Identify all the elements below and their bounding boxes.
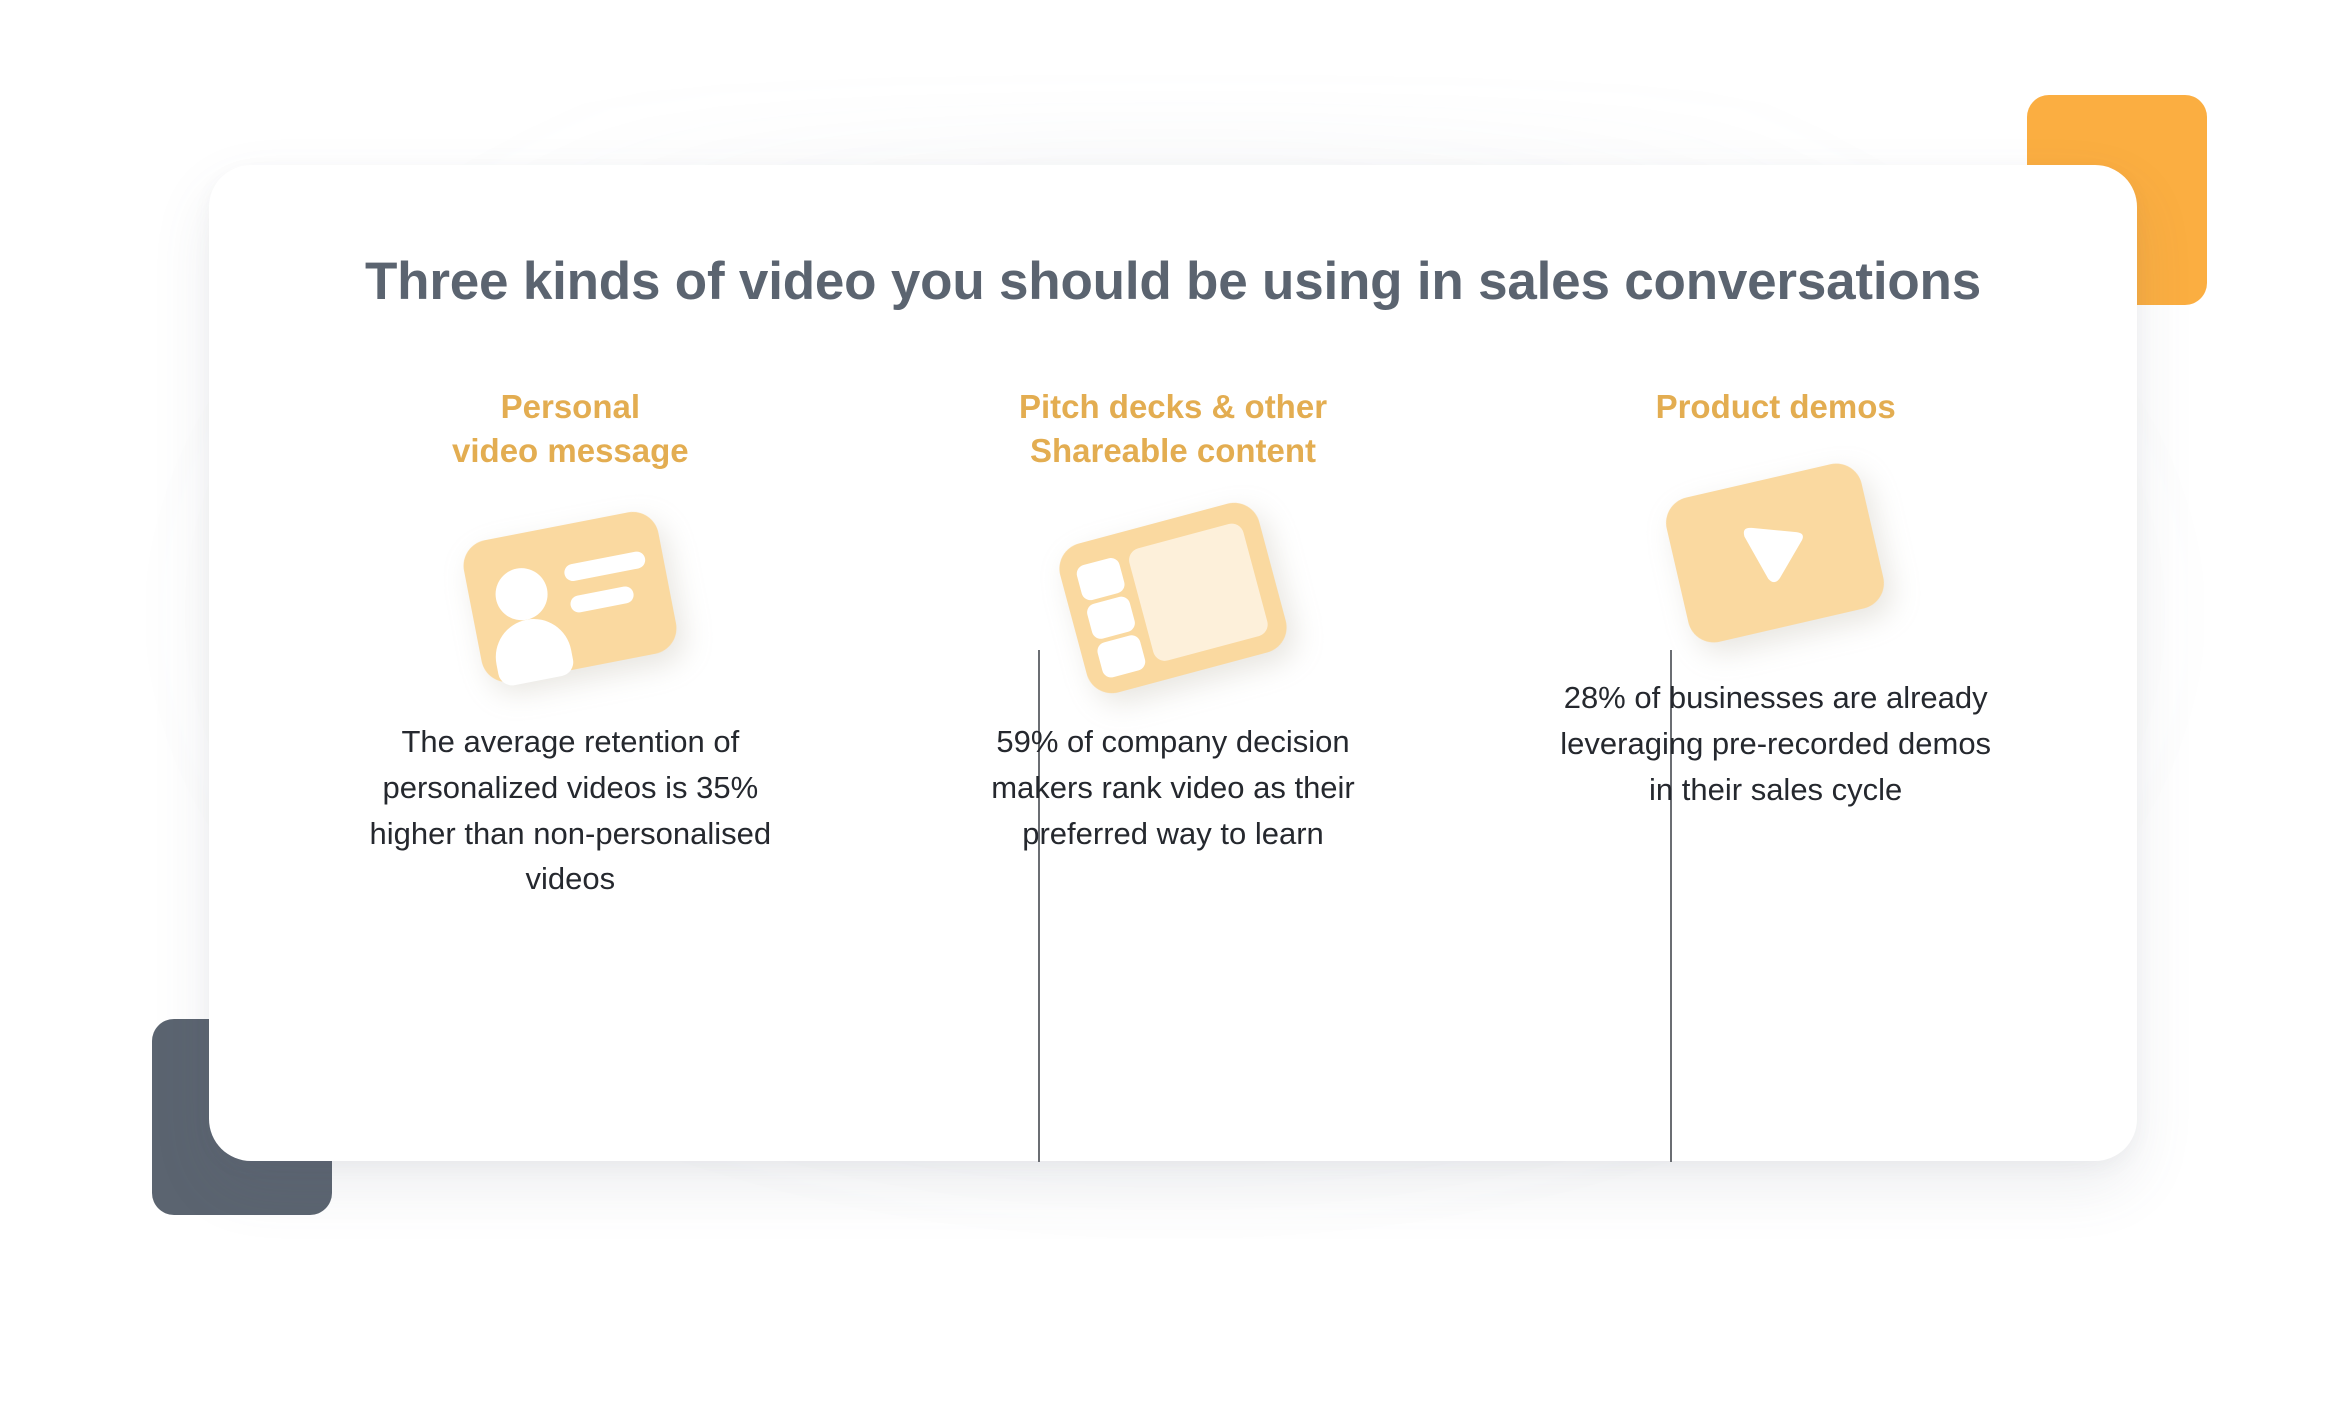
slide-deck-contents <box>1054 497 1293 699</box>
main-slide-panel <box>1126 521 1270 664</box>
infographic-stage: Three kinds of video you should be using… <box>0 0 2348 1412</box>
page-title: Three kinds of video you should be using… <box>209 251 2137 312</box>
column-heading: Personal video message <box>452 385 689 473</box>
text-line-bar <box>569 585 635 614</box>
text-line-bar <box>563 550 647 582</box>
column-pitch-decks: Pitch decks & other Shareable content 59… <box>872 385 1475 856</box>
column-personal-video-message: Personal video message The average reten… <box>269 385 872 902</box>
columns-container: Personal video message The average reten… <box>269 385 2077 902</box>
slide-thumbnail <box>1095 633 1147 679</box>
play-button-icon <box>1611 439 1941 669</box>
column-heading: Product demos <box>1656 385 1896 429</box>
slide-thumbnail <box>1075 556 1127 602</box>
play-button-contents <box>1661 458 1889 647</box>
content-card: Three kinds of video you should be using… <box>209 165 2137 1161</box>
column-body-text: 28% of businesses are already leveraging… <box>1546 675 2006 813</box>
slide-deck-icon <box>1008 483 1338 713</box>
contact-card-contents <box>459 507 681 686</box>
column-product-demos: Product demos 28% of businesses are alre… <box>1474 385 2077 813</box>
column-body-text: 59% of company decision makers rank vide… <box>943 719 1403 857</box>
person-body-shape <box>490 612 576 687</box>
slide-thumbnail <box>1085 594 1137 640</box>
person-head-shape <box>491 563 552 624</box>
play-triangle-shape <box>1731 510 1819 595</box>
column-heading: Pitch decks & other Shareable content <box>1019 385 1327 473</box>
column-body-text: The average retention of personalized vi… <box>340 719 800 903</box>
contact-card-icon <box>405 483 735 713</box>
